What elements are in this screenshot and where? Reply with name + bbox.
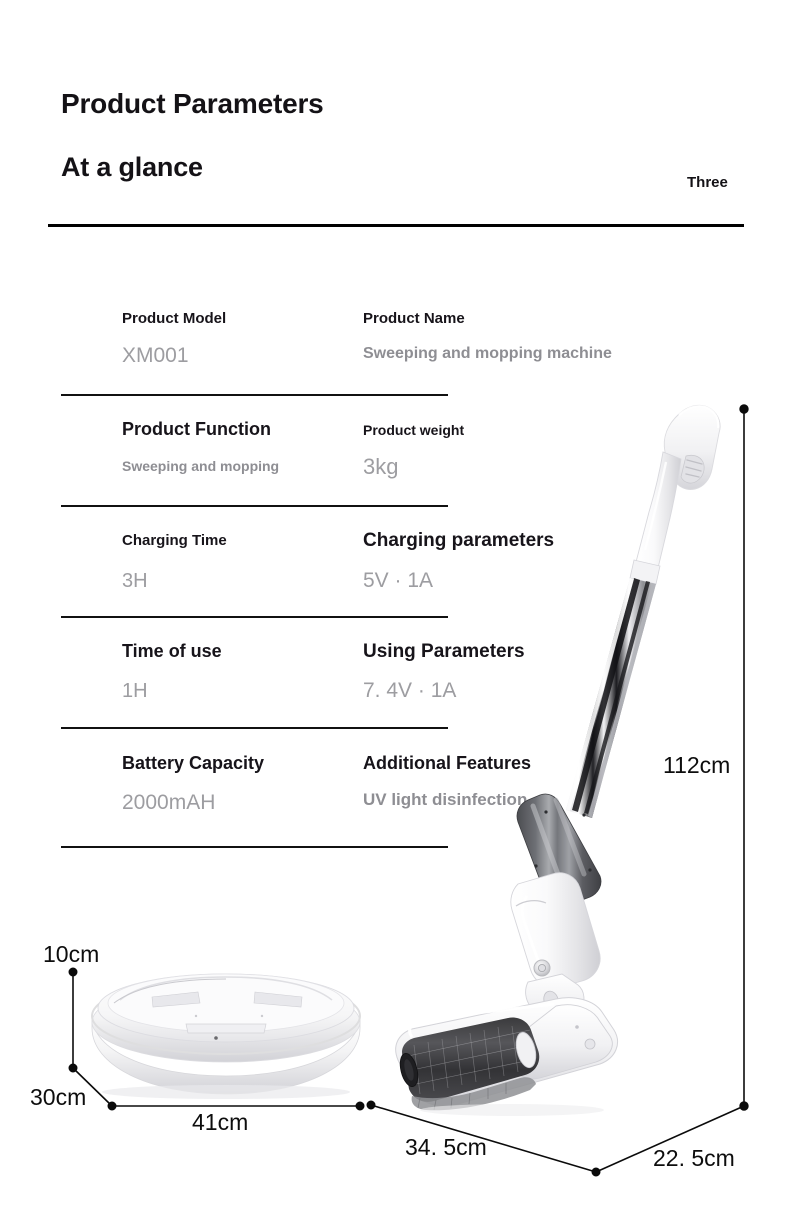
product-parameters-page: Product Parameters At a glance Three Pro… xyxy=(0,0,790,1224)
dimension-labels: 112cm 10cm 30cm 41cm 34. 5cm 22. 5cm xyxy=(0,0,790,1224)
dimension-label-base-width: 41cm xyxy=(192,1109,248,1136)
dimension-label-height: 112cm xyxy=(663,752,730,779)
dimension-label-head-width: 34. 5cm xyxy=(405,1134,487,1161)
dimension-label-head-depth: 22. 5cm xyxy=(653,1145,735,1172)
dimension-label-base-depth: 30cm xyxy=(30,1084,86,1111)
dimension-label-base-height: 10cm xyxy=(43,941,99,968)
